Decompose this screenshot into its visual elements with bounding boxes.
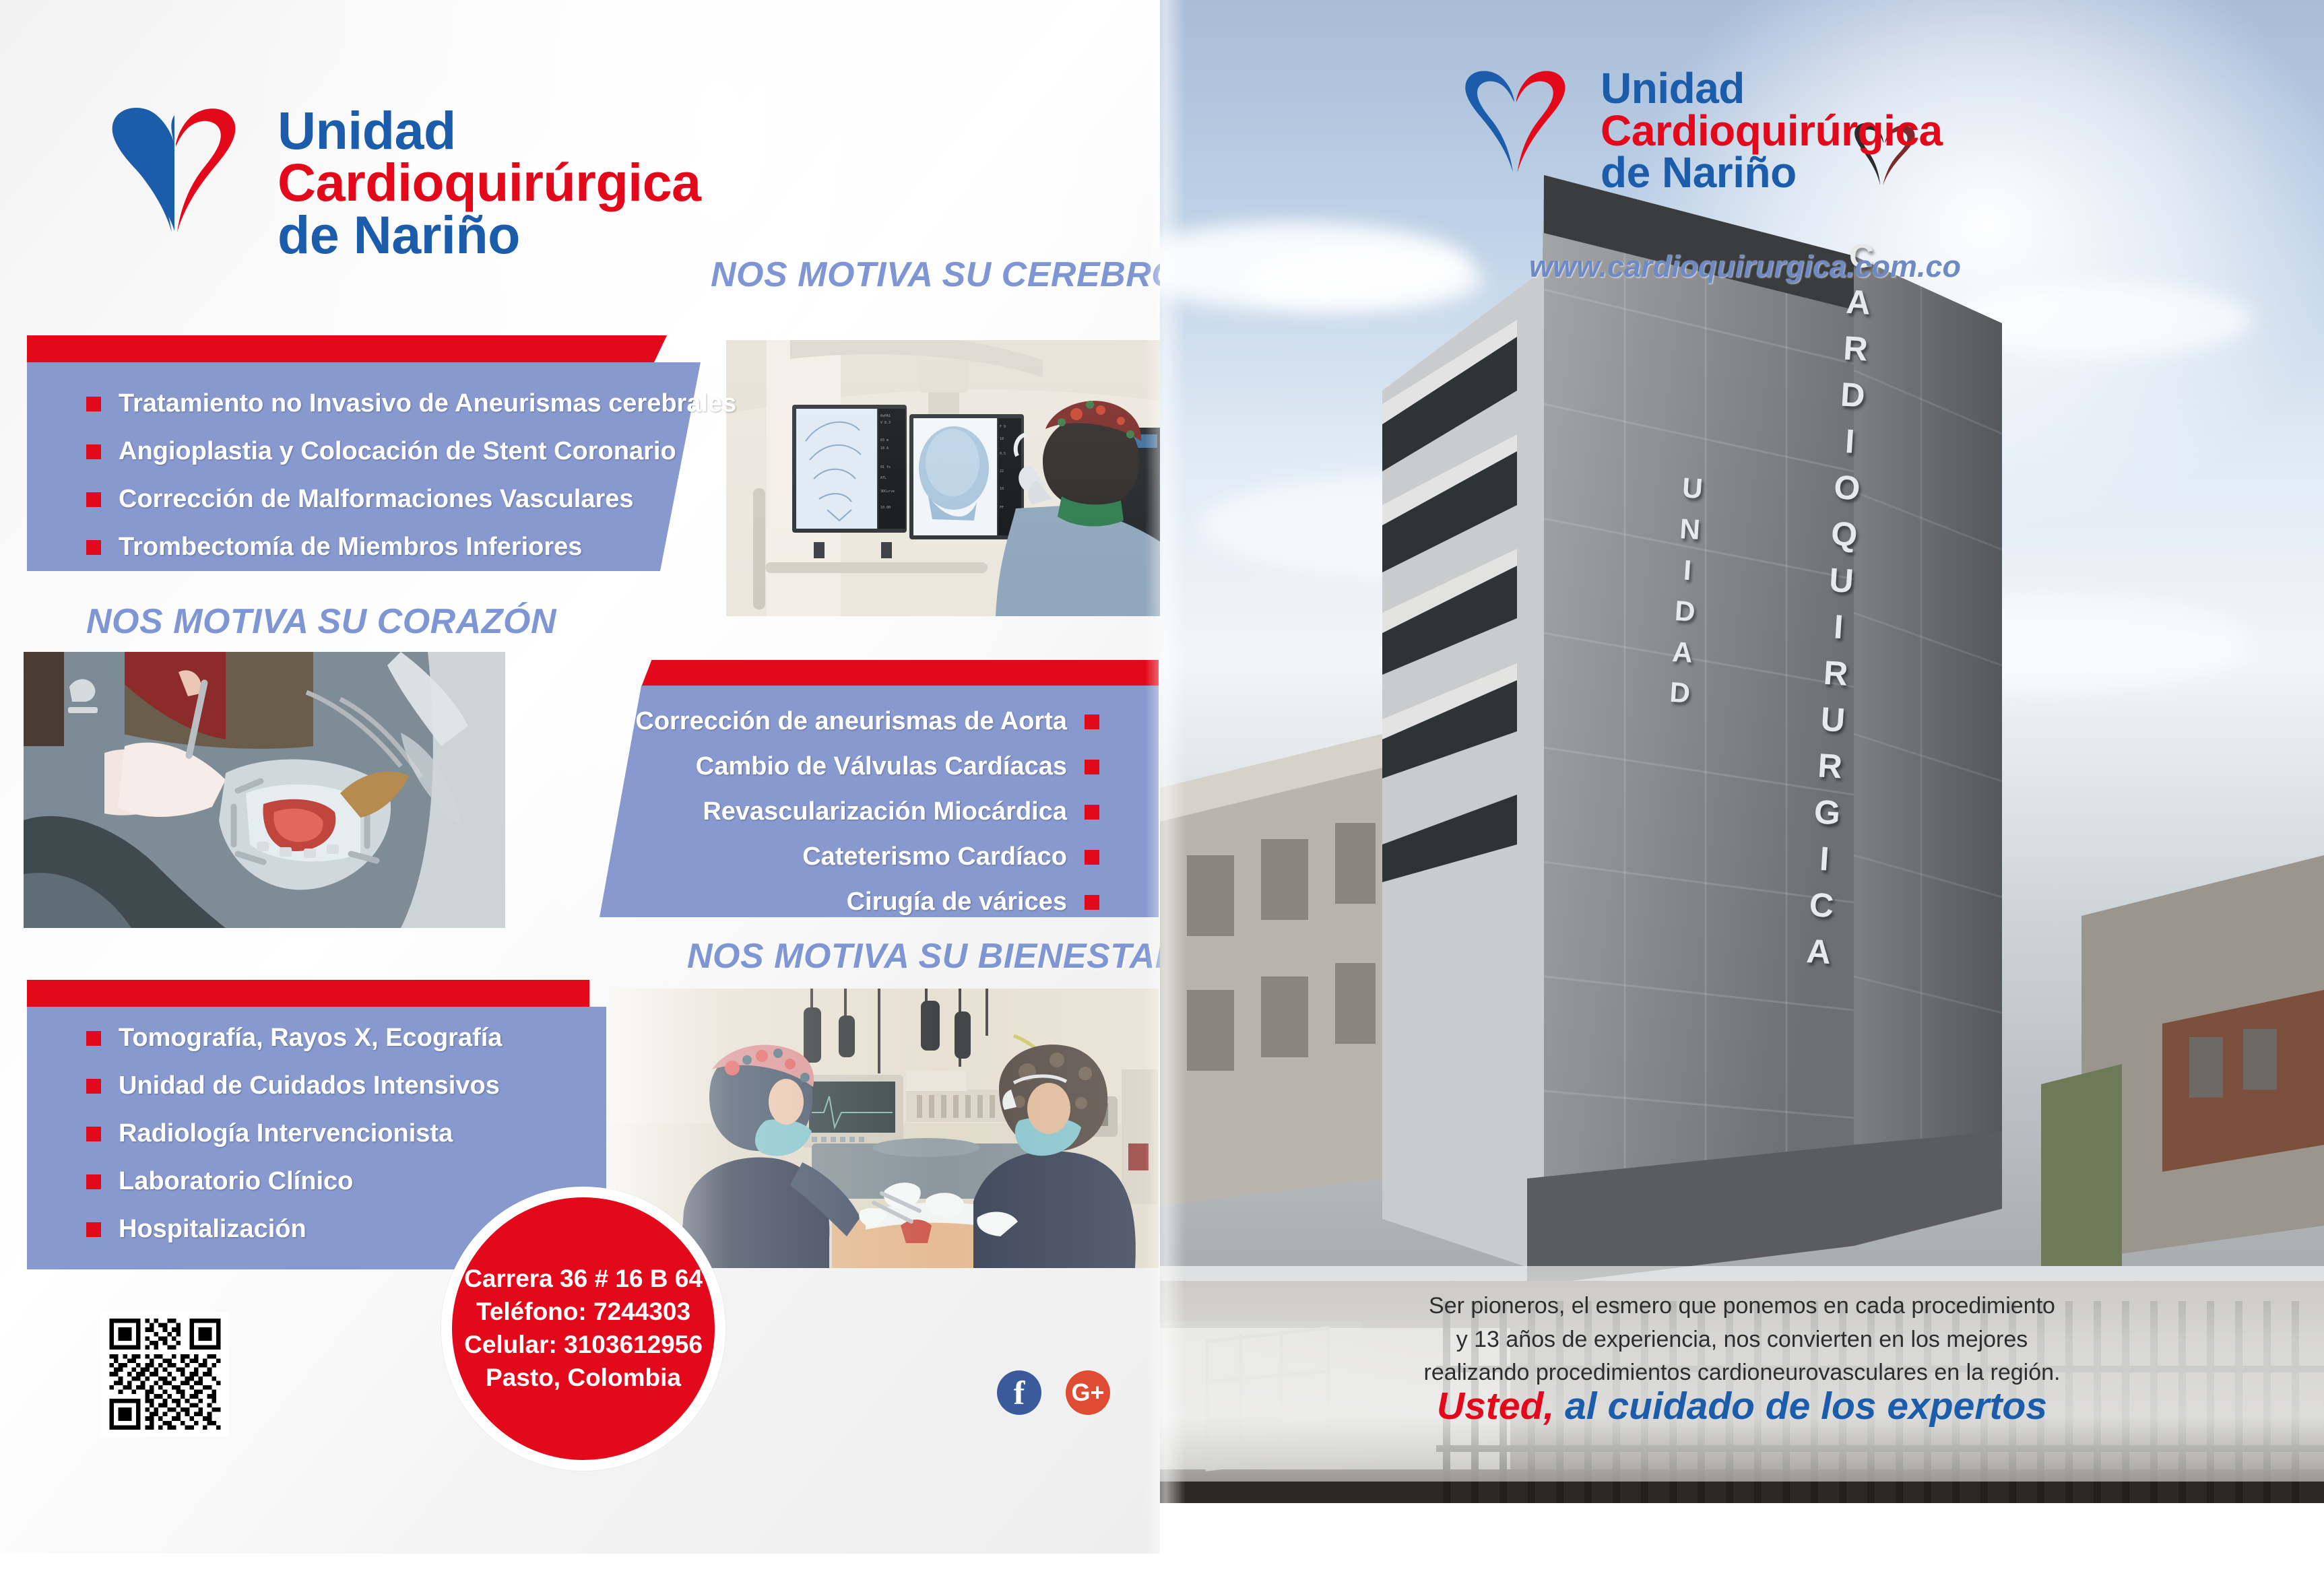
- bullet-square-icon: [86, 397, 101, 411]
- adjacent-building: [1160, 707, 1443, 1219]
- brochure-page: Unidad Cardioquirúrgica de Nariño NOS MO…: [0, 0, 2324, 1594]
- section-heading-cerebro: NOS MOTIVA SU CEREBRO: [711, 255, 1179, 295]
- service-label: Tomografía, Rayos X, Ecografía: [119, 1024, 502, 1053]
- bullet-square-icon: [86, 1031, 101, 1046]
- service-label: Angioplastia y Colocación de Stent Coron…: [119, 437, 676, 466]
- services-panel-cerebro: Tratamiento no Invasivo de Aneurismas ce…: [27, 335, 721, 571]
- logo-line-3: de Nariño: [1601, 152, 1943, 194]
- open-heart-surgery-photo: [24, 652, 505, 928]
- logo-left: Unidad Cardioquirúrgica de Nariño: [101, 104, 701, 261]
- services-panel-corazon: Corrección de aneurismas de Aorta Cambio…: [559, 660, 1159, 917]
- service-item: Radiología Intervencionista: [86, 1119, 502, 1148]
- contact-mobile: Celular: 3103612956: [464, 1329, 703, 1362]
- social-links-row: f G+: [997, 1370, 1110, 1415]
- logo-line-2: Cardioquirúrgica: [278, 156, 701, 208]
- mission-line-1: Ser pioneros, el esmero que ponemos en c…: [1160, 1290, 2324, 1323]
- service-item: Cambio de Válvulas Cardíacas: [696, 752, 1099, 781]
- operating-room-team-photo: [610, 989, 1159, 1268]
- service-item: Hospitalización: [86, 1215, 502, 1244]
- contact-phone: Teléfono: 7244303: [476, 1296, 690, 1329]
- hospital-building-photo: UN ID AD CA RD IO QU IR UR GI CA: [1382, 168, 2063, 1313]
- service-label: Laboratorio Clínico: [119, 1167, 353, 1196]
- section-heading-bienestar: NOS MOTIVA SU BIENESTAR: [687, 936, 1181, 976]
- bullet-square-icon: [1085, 895, 1099, 910]
- logo-line-3: de Nariño: [278, 209, 701, 261]
- services-list-corazon: Corrección de aneurismas de Aorta Cambio…: [635, 707, 1099, 917]
- service-label: Tratamiento no Invasivo de Aneurismas ce…: [119, 389, 736, 418]
- bullet-square-icon: [1085, 850, 1099, 865]
- service-item: Cirugía de várices: [847, 888, 1099, 917]
- logo-line-1: Unidad: [278, 104, 701, 156]
- right-side-structure: [2041, 795, 2324, 1266]
- contact-city: Pasto, Colombia: [486, 1362, 681, 1395]
- google-plus-glyph: G+: [1071, 1379, 1104, 1407]
- bullet-square-icon: [1085, 715, 1099, 729]
- neuro-angiography-room-photo: 0xPA1V 8.3 03 m18 A 01 fsATL 3DCurve10.0…: [726, 340, 1161, 616]
- bullet-square-icon: [86, 1127, 101, 1141]
- facebook-glyph: f: [1014, 1373, 1025, 1412]
- service-label: Hospitalización: [119, 1215, 306, 1244]
- service-label: Cambio de Válvulas Cardíacas: [696, 752, 1067, 781]
- bullet-square-icon: [1085, 805, 1099, 820]
- panel-red-accent-bar: [641, 660, 1159, 687]
- service-item: Revascularización Miocárdica: [703, 797, 1099, 826]
- tagline-blue: al cuidado de los expertos: [1565, 1385, 2047, 1428]
- bullet-square-icon: [86, 1079, 101, 1094]
- service-item: Trombectomía de Miembros Inferiores: [86, 533, 736, 562]
- service-label: Cirugía de várices: [847, 888, 1067, 917]
- contact-address: Carrera 36 # 16 B 64: [464, 1263, 703, 1296]
- panel-divider-fade: [1145, 0, 1186, 1594]
- logo-line-1: Unidad: [1601, 67, 1943, 110]
- service-item: Laboratorio Clínico: [86, 1167, 502, 1196]
- bullet-square-icon: [86, 540, 101, 555]
- service-label: Cateterismo Cardíaco: [802, 842, 1067, 871]
- logo-line-2: Cardioquirúrgica: [1601, 110, 1943, 152]
- bullet-square-icon: [86, 1174, 101, 1189]
- service-label: Corrección de aneurismas de Aorta: [635, 707, 1067, 736]
- service-item: Tratamiento no Invasivo de Aneurismas ce…: [86, 389, 736, 418]
- service-label: Unidad de Cuidados Intensivos: [119, 1071, 500, 1100]
- service-item: Angioplastia y Colocación de Stent Coron…: [86, 437, 736, 466]
- panel-red-accent-bar: [27, 335, 667, 362]
- service-item: Corrección de Malformaciones Vasculares: [86, 485, 736, 514]
- service-item: Corrección de aneurismas de Aorta: [635, 707, 1099, 736]
- mission-statement: Ser pioneros, el esmero que ponemos en c…: [1160, 1290, 2324, 1390]
- tagline: Usted, al cuidado de los expertos: [1160, 1384, 2324, 1428]
- facebook-icon[interactable]: f: [997, 1370, 1041, 1415]
- bullet-square-icon: [1085, 760, 1099, 774]
- service-label: Corrección de Malformaciones Vasculares: [119, 485, 634, 514]
- service-item: Unidad de Cuidados Intensivos: [86, 1071, 502, 1100]
- section-heading-corazon: NOS MOTIVA SU CORAZÓN: [86, 601, 556, 642]
- services-list-bienestar: Tomografía, Rayos X, Ecografía Unidad de…: [86, 1024, 502, 1244]
- qr-code[interactable]: [101, 1312, 229, 1436]
- logo-right: Unidad Cardioquirúrgica de Nariño: [1455, 67, 1943, 194]
- bullet-square-icon: [86, 1222, 101, 1237]
- mission-line-2: y 13 años de experiencia, nos convierten…: [1160, 1323, 2324, 1357]
- heart-logo-icon: [101, 104, 251, 234]
- bullet-square-icon: [86, 444, 101, 459]
- bullet-square-icon: [86, 492, 101, 507]
- tagline-red: Usted,: [1437, 1385, 1554, 1428]
- service-label: Radiología Intervencionista: [119, 1119, 453, 1148]
- service-item: Tomografía, Rayos X, Ecografía: [86, 1024, 502, 1053]
- service-label: Trombectomía de Miembros Inferiores: [119, 533, 582, 562]
- services-list-cerebro: Tratamiento no Invasivo de Aneurismas ce…: [86, 389, 736, 562]
- service-item: Cateterismo Cardíaco: [802, 842, 1099, 871]
- panel-red-accent-bar: [27, 980, 589, 1007]
- contact-info-badge: Carrera 36 # 16 B 64 Teléfono: 7244303 C…: [441, 1187, 725, 1471]
- service-label: Revascularización Miocárdica: [703, 797, 1067, 826]
- heart-logo-icon: [1455, 67, 1578, 174]
- google-plus-icon[interactable]: G+: [1066, 1370, 1110, 1415]
- website-url[interactable]: www.cardioquirurgica.com.co: [1529, 249, 1961, 284]
